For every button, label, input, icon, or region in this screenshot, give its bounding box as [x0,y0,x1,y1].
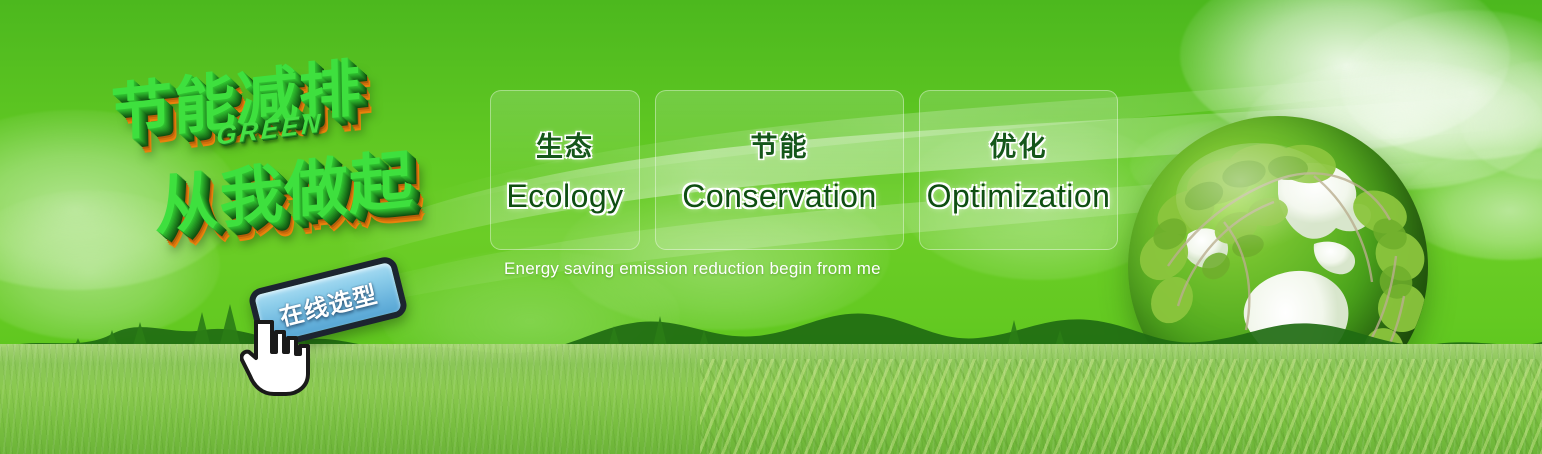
eco-promo-banner: 节能减排 GREEN 从我做起 生态 Ecology 节能 Conservati… [0,0,1542,454]
pointing-hand-cursor-icon [240,318,310,396]
card-title-cn: 优化 [990,125,1048,164]
fallen-leaves-layer [700,359,1542,454]
card-title-cn: 生态 [536,125,594,164]
feature-card-group: 生态 Ecology 节能 Conservation 优化 Optimizati… [490,90,1118,250]
feature-card-ecology[interactable]: 生态 Ecology [490,90,640,250]
card-title-cn: 节能 [751,125,809,164]
grass-field [0,344,1542,454]
feature-card-conservation[interactable]: 节能 Conservation [655,90,904,250]
card-title-en: Conservation [682,178,877,215]
card-title-en: Optimization [927,178,1111,215]
card-title-en: Ecology [506,178,623,215]
headline-artwork: 节能减排 GREEN 从我做起 [96,36,496,276]
feature-card-optimization[interactable]: 优化 Optimization [919,90,1118,250]
globe-highlight [1176,143,1338,252]
headline-line-2: 从我做起 [154,128,414,248]
tagline-text: Energy saving emission reduction begin f… [504,259,881,279]
